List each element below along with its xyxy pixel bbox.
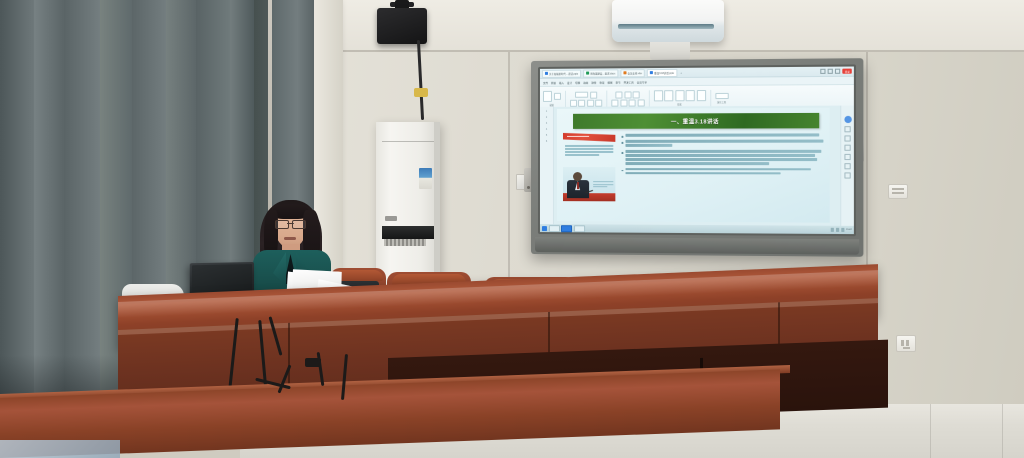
ppt-file-icon	[545, 72, 548, 75]
ribbon-group-font[interactable]	[570, 91, 603, 106]
power-outlet[interactable]	[896, 335, 916, 352]
indent-icon[interactable]	[633, 91, 640, 98]
file-tab-label: 关于加强新时代…讲话.pptx	[549, 71, 578, 75]
speaker-photo	[563, 167, 615, 201]
slide-bullet	[621, 150, 825, 166]
taskbar-item-browser[interactable]	[574, 225, 585, 232]
bullet-dot	[621, 152, 623, 154]
design-panel-icon[interactable]	[844, 145, 850, 151]
textbox-icon[interactable]	[664, 90, 673, 101]
ac-brand-badge	[385, 216, 397, 221]
comment-panel-icon[interactable]	[844, 163, 850, 169]
current-slide[interactable]: 一、重温3.18讲话	[557, 108, 830, 223]
menu-item-developer[interactable]: 开发工具	[624, 80, 634, 84]
thumb-num: 5	[546, 134, 547, 137]
floor-cables	[255, 352, 375, 412]
menu-item-section[interactable]: 章节	[616, 80, 621, 84]
energy-rating-label	[419, 168, 432, 189]
thumb-num: 1	[546, 110, 547, 113]
ac-cabinet-frame	[434, 122, 440, 290]
resource-panel-icon[interactable]	[844, 154, 850, 160]
eyeglasses	[275, 220, 306, 227]
window-controls[interactable]: 登录	[821, 69, 852, 74]
animation-panel-icon[interactable]	[844, 135, 850, 141]
maximize-icon[interactable]	[828, 69, 833, 74]
menu-item-slideshow[interactable]: 放映	[591, 80, 596, 84]
ribbon-group-shapes[interactable]: 形状	[653, 90, 705, 106]
ac-vent-slats	[384, 239, 426, 246]
shape-icon[interactable]	[653, 90, 662, 101]
ribbon-divider	[606, 91, 607, 107]
ac-air-outlet	[382, 226, 434, 239]
menu-item-home[interactable]: 开始	[551, 80, 556, 84]
slide-bullet	[621, 140, 825, 148]
red-ribbon-decoration	[563, 133, 615, 142]
os-taskbar[interactable]: 15:42	[540, 224, 854, 234]
speaker-tie	[577, 182, 579, 189]
volume-icon[interactable]	[835, 228, 839, 232]
file-tab-label: 会议安排.xlsx	[627, 71, 642, 75]
thumb-num: 6	[546, 140, 547, 143]
numbered-list-icon[interactable]	[624, 91, 631, 98]
menu-item-review[interactable]: 审阅	[599, 80, 604, 84]
bold-icon[interactable]	[570, 99, 577, 106]
start-button[interactable]	[542, 226, 547, 231]
slide-stage[interactable]: 一、重温3.18讲话	[554, 106, 840, 226]
file-tab[interactable]: 思政课建设…要求.docx	[583, 69, 618, 77]
ac-panel-seam	[382, 141, 434, 142]
doc-file-icon	[586, 72, 589, 75]
ribbon-divider	[648, 90, 649, 106]
menu-item-member[interactable]: 会员专享	[637, 80, 647, 84]
ribbon-divider	[710, 90, 711, 106]
ac-bracket	[650, 42, 690, 60]
menu-item-animation[interactable]: 动画	[583, 80, 588, 84]
bullet-dot	[621, 136, 623, 138]
cable-clip	[414, 88, 428, 97]
editor-workspace[interactable]: 1 2 3 4 5 6 一、重温3.18讲话	[540, 106, 854, 226]
ribbon-group-present[interactable]: 演示工具	[715, 92, 728, 103]
menu-item-file[interactable]: 文件	[543, 80, 548, 84]
ribbon-divider	[564, 91, 565, 107]
slide-title-banner: 一、重温3.18讲话	[573, 113, 819, 129]
sign-in-button[interactable]: 登录	[843, 69, 852, 74]
display-screen[interactable]: 关于加强新时代…讲话.pptx 思政课建设…要求.docx 会议安排.xlsx	[540, 67, 854, 235]
more-panel-icon[interactable]	[844, 172, 850, 178]
taskbar-item-wps-office[interactable]	[561, 225, 572, 232]
speaker-head	[573, 172, 582, 181]
format-panel-icon[interactable]	[844, 126, 850, 132]
photo-caption	[593, 181, 613, 189]
ai-assistant-icon[interactable]	[844, 116, 851, 123]
slide-side-quote	[565, 145, 613, 157]
interactive-whiteboard[interactable]: 关于加强新时代…讲话.pptx 思政课建设…要求.docx 会议安排.xlsx	[531, 58, 863, 257]
display-bezel: 关于加强新时代…讲话.pptx 思政课建设…要求.docx 会议安排.xlsx	[538, 64, 856, 236]
thumb-num: 3	[546, 122, 547, 125]
input-method-icon[interactable]	[841, 228, 845, 232]
chart-icon[interactable]	[686, 90, 695, 101]
file-tab-label: 思政课建设…要求.docx	[590, 71, 615, 75]
pen-tray	[535, 237, 859, 255]
presentation-software[interactable]: 关于加强新时代…讲话.pptx 思政课建设…要求.docx 会议安排.xlsx	[540, 67, 854, 235]
cut-icon[interactable]	[553, 93, 560, 100]
font-color-icon[interactable]	[595, 99, 602, 106]
meeting-room-photo: 关于加强新时代…讲话.pptx 思政课建设…要求.docx 会议安排.xlsx	[0, 0, 1024, 458]
ceiling-projector	[377, 8, 427, 44]
mouth	[284, 237, 296, 240]
bullet-dot	[621, 170, 623, 172]
network-icon[interactable]	[830, 228, 834, 232]
floor-air-conditioner	[376, 122, 440, 290]
floor-tile-line	[1002, 404, 1003, 458]
slide-bullet	[621, 133, 825, 137]
underline-icon[interactable]	[587, 99, 594, 106]
menu-item-insert[interactable]: 插入	[559, 80, 564, 84]
italic-icon[interactable]	[578, 99, 585, 106]
image-icon[interactable]	[675, 90, 684, 101]
slide-title-text: 一、重温3.18讲话	[671, 117, 719, 125]
ac-louver	[618, 24, 714, 29]
wall-air-conditioner	[612, 0, 724, 42]
menu-item-view[interactable]: 视图	[607, 80, 612, 84]
font-size-select[interactable]	[590, 91, 597, 98]
file-tab-label: 重温3.18讲话.pptx	[654, 70, 674, 74]
font-name-select[interactable]	[575, 92, 588, 98]
paste-icon[interactable]	[543, 91, 552, 102]
taskbar-item-file-explorer[interactable]	[548, 225, 559, 232]
align-right-icon[interactable]	[629, 99, 636, 106]
slide-bullet	[621, 168, 825, 176]
foreground-reflection	[0, 440, 120, 458]
thumb-num: 2	[546, 116, 547, 119]
new-tab-button[interactable]: +	[679, 70, 683, 74]
right-tool-dock[interactable]	[840, 106, 854, 226]
floor-tile-line	[930, 404, 931, 458]
ceiling-trim	[240, 50, 1024, 52]
slide-bullet-list	[621, 133, 825, 178]
slideshow-icon[interactable]	[715, 92, 728, 98]
taskbar-clock[interactable]: 15:42	[846, 229, 852, 231]
minimize-icon[interactable]	[821, 69, 826, 74]
light-switch[interactable]	[888, 184, 908, 199]
file-tab[interactable]: 关于加强新时代…讲话.pptx	[542, 69, 581, 77]
close-icon[interactable]	[835, 69, 840, 74]
system-tray[interactable]: 15:42	[830, 228, 852, 232]
file-tab[interactable]: 会议安排.xlsx	[620, 69, 645, 77]
slide-thumbnails[interactable]: 1 2 3 4 5 6	[540, 107, 554, 224]
ppt-file-icon	[650, 71, 653, 74]
line-spacing-icon[interactable]	[637, 99, 644, 106]
file-tab-active[interactable]: 重温3.18讲话.pptx	[647, 68, 677, 76]
port-indicator	[527, 186, 530, 189]
bullet-list-icon[interactable]	[616, 91, 623, 98]
align-center-icon[interactable]	[620, 99, 627, 106]
ribbon-group-paragraph[interactable]	[611, 91, 644, 106]
table-icon[interactable]	[696, 90, 705, 101]
menu-item-design[interactable]: 设计	[567, 80, 572, 84]
thumb-num: 4	[546, 128, 547, 131]
menu-item-transition[interactable]: 切换	[575, 80, 580, 84]
align-left-icon[interactable]	[611, 99, 618, 106]
ribbon-group-paste[interactable]: 粘贴	[543, 91, 561, 107]
sheet-file-icon	[623, 71, 626, 74]
ribbon-group-label: 演示工具	[717, 100, 726, 104]
bullet-dot	[621, 142, 623, 144]
